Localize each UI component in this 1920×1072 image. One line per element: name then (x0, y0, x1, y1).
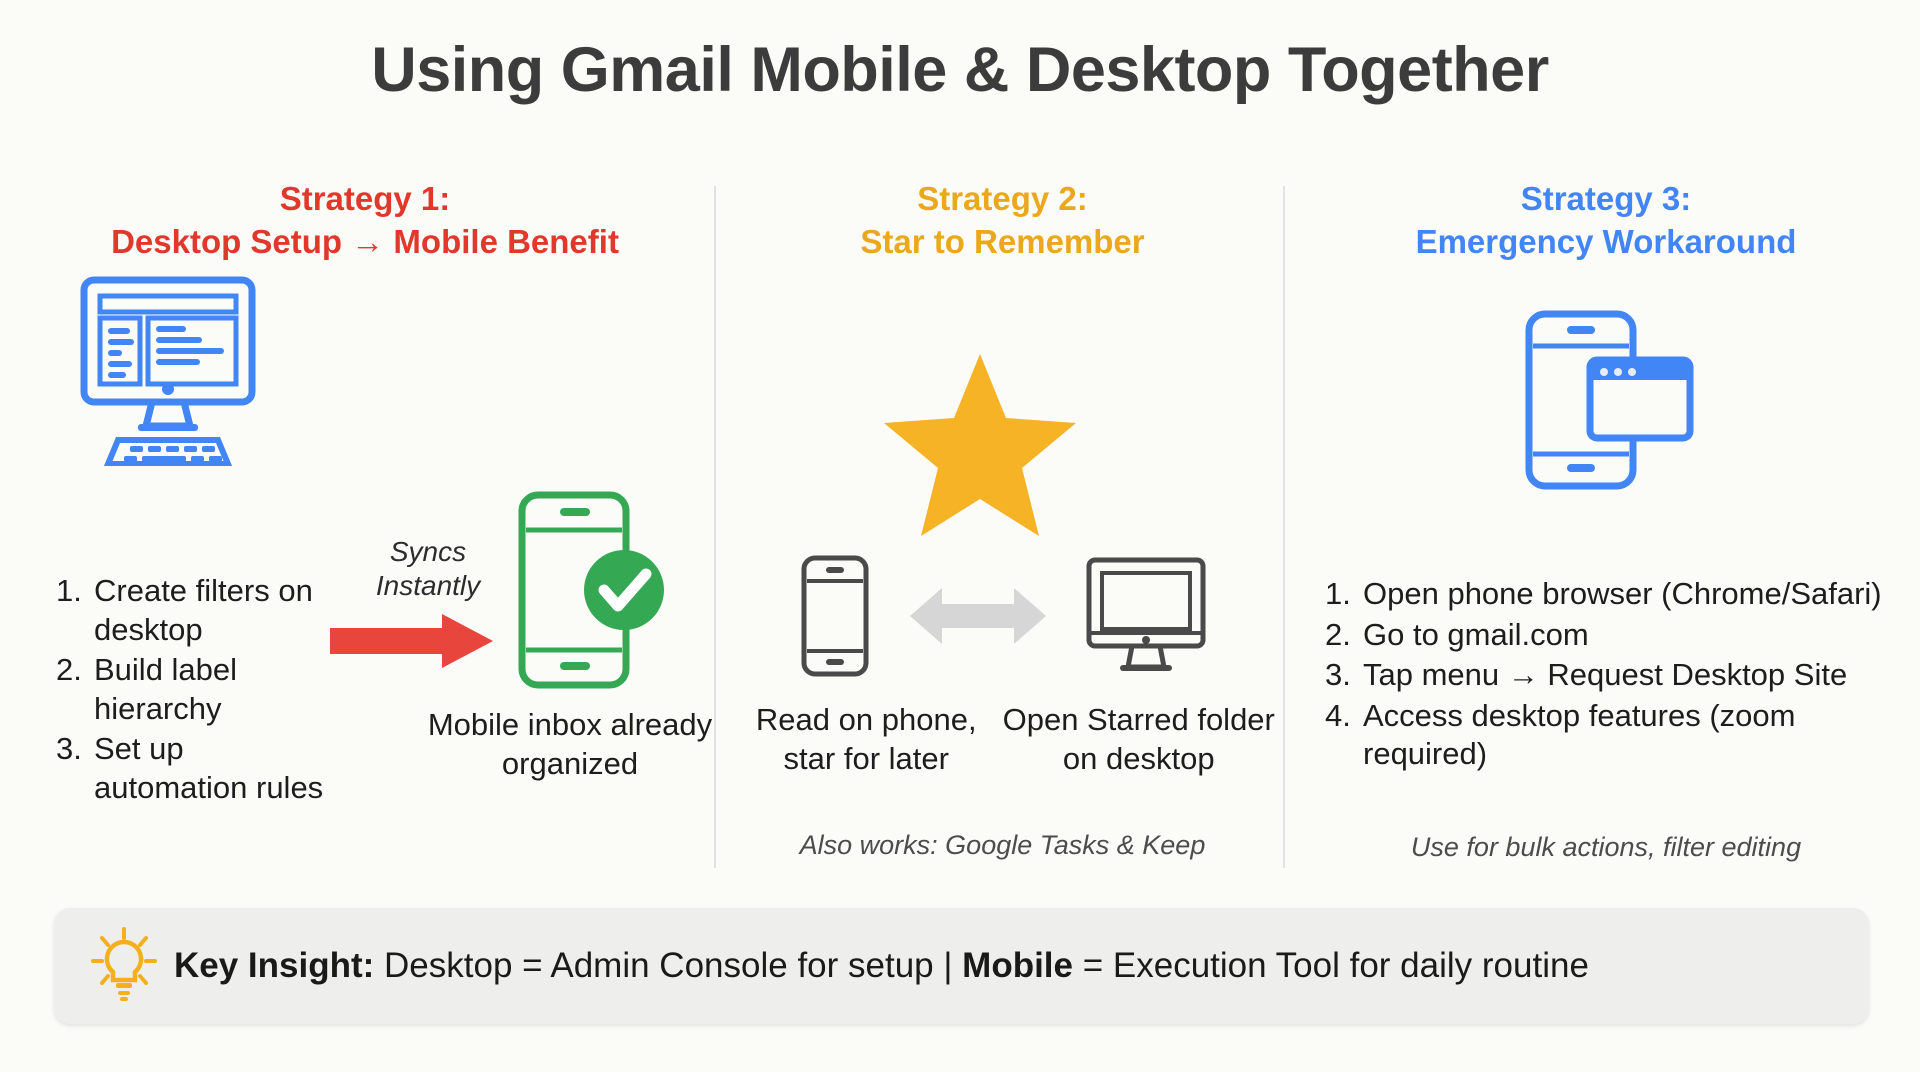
step-number: 1. (1325, 575, 1363, 614)
caption-read-on-phone: Read on phone, star for later (730, 700, 1003, 778)
strategy-3-heading: Strategy 3: Emergency Workaround (1300, 178, 1912, 263)
column-divider-2 (1283, 186, 1285, 868)
star-icon (880, 350, 1080, 545)
strategy-1-heading-line2: Desktop Setup → Mobile Benefit (20, 221, 710, 264)
bidirectional-sync-arrow-icon (908, 581, 1048, 656)
list-item: 2. Go to gmail.com (1325, 616, 1920, 655)
key-insight-bold-mid: Mobile (962, 946, 1073, 985)
strategy-3-footnote: Use for bulk actions, filter editing (1300, 832, 1912, 863)
strategy-3-steps: 1. Open phone browser (Chrome/Safari) 2.… (1325, 575, 1920, 776)
step-text: Go to gmail.com (1363, 616, 1920, 655)
sync-devices-row (800, 555, 1206, 682)
step-number: 1. (56, 572, 94, 649)
key-insight-banner: Key Insight: Desktop = Admin Console for… (54, 908, 1869, 1024)
caption-open-starred: Open Starred folder on desktop (1003, 700, 1276, 778)
mobile-phone-success-icon (516, 490, 666, 695)
key-insight-segment-1: Desktop = Admin Console for setup | (374, 946, 962, 985)
key-insight-bold-prefix: Key Insight: (174, 946, 374, 985)
list-item: 3. Set up automation rules (56, 730, 326, 807)
syncs-instantly-line2: Instantly (343, 569, 513, 603)
desktop-monitor-icon (1086, 557, 1206, 680)
strategy-2-footnote: Also works: Google Tasks & Keep (730, 830, 1275, 861)
phone-browser-icon (1524, 310, 1694, 495)
step-number: 3. (1325, 656, 1363, 695)
syncs-instantly-line1: Syncs (343, 535, 513, 569)
strategy-1-heading-line1: Strategy 1: (20, 178, 710, 221)
strategy-1-result-caption: Mobile inbox already organized (420, 705, 720, 783)
strategy-2-heading: Strategy 2: Star to Remember (730, 178, 1275, 263)
step-number: 2. (1325, 616, 1363, 655)
strategy-1-steps: 1. Create filters on desktop 2. Build la… (56, 572, 326, 810)
lightbulb-icon (90, 926, 158, 1007)
step-text: Access desktop features (zoom required) (1363, 697, 1920, 774)
list-item: 1. Create filters on desktop (56, 572, 326, 649)
strategy-3-column: Strategy 3: Emergency Workaround (1300, 178, 1912, 263)
page-title: Using Gmail Mobile & Desktop Together (0, 34, 1920, 106)
strategy-2-captions: Read on phone, star for later Open Starr… (730, 700, 1275, 778)
desktop-computer-icon (78, 276, 258, 471)
step-text: Open phone browser (Chrome/Safari) (1363, 575, 1920, 614)
step-text: Set up automation rules (94, 730, 326, 807)
step-text: Build label hierarchy (94, 651, 326, 728)
strategy-3-heading-line2: Emergency Workaround (1300, 221, 1912, 264)
infographic-page: Using Gmail Mobile & Desktop Together St… (0, 0, 1920, 1072)
sync-arrow-icon (330, 612, 495, 675)
strategy-1-heading: Strategy 1: Desktop Setup → Mobile Benef… (20, 178, 710, 263)
strategy-2-heading-line1: Strategy 2: (730, 178, 1275, 221)
step-number: 2. (56, 651, 94, 728)
step-text: Create filters on desktop (94, 572, 326, 649)
strategy-3-heading-line1: Strategy 3: (1300, 178, 1912, 221)
list-item: 1. Open phone browser (Chrome/Safari) (1325, 575, 1920, 614)
step-number: 4. (1325, 697, 1363, 774)
strategy-2-heading-line2: Star to Remember (730, 221, 1275, 264)
step-text: Tap menu → Request Desktop Site (1363, 656, 1920, 695)
list-item: 4. Access desktop features (zoom require… (1325, 697, 1920, 774)
strategy-2-column: Strategy 2: Star to Remember (730, 178, 1275, 263)
syncs-instantly-label: Syncs Instantly (343, 535, 513, 603)
key-insight-text: Key Insight: Desktop = Admin Console for… (174, 946, 1589, 986)
phone-icon (800, 555, 870, 682)
strategy-1-column: Strategy 1: Desktop Setup → Mobile Benef… (20, 178, 710, 263)
list-item: 2. Build label hierarchy (56, 651, 326, 728)
step-number: 3. (56, 730, 94, 807)
list-item: 3. Tap menu → Request Desktop Site (1325, 656, 1920, 695)
key-insight-segment-2: = Execution Tool for daily routine (1073, 946, 1589, 985)
